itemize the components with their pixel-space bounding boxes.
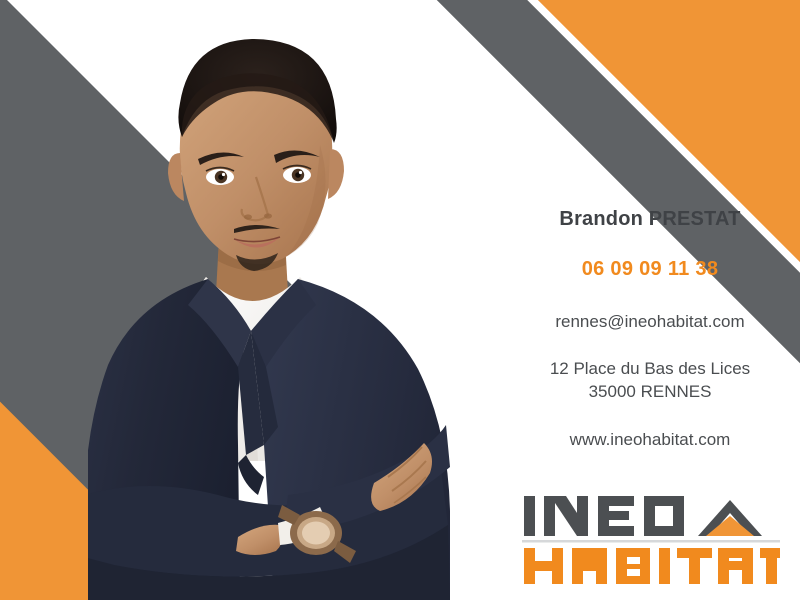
contact-name: Brandon PRESTAT bbox=[500, 208, 800, 231]
logo-ineo-text bbox=[524, 496, 684, 536]
business-card: Brandon PRESTAT 06 09 09 11 38 rennes@in… bbox=[0, 0, 800, 600]
contact-address: 12 Place du Bas des Lices 35000 RENNES bbox=[500, 358, 800, 404]
logo-habitat-text bbox=[524, 548, 780, 584]
portrait-photo bbox=[88, 25, 508, 600]
address-line-1: 12 Place du Bas des Lices bbox=[500, 358, 800, 381]
contact-email[interactable]: rennes@ineohabitat.com bbox=[500, 312, 800, 332]
address-line-2: 35000 RENNES bbox=[500, 381, 800, 404]
roof-chevron-icon bbox=[698, 500, 762, 536]
logo-divider bbox=[522, 540, 780, 543]
contact-phone[interactable]: 06 09 09 11 38 bbox=[500, 258, 800, 281]
contact-website[interactable]: www.ineohabitat.com bbox=[500, 430, 800, 450]
company-logo bbox=[522, 490, 780, 585]
contact-info-panel: Brandon PRESTAT 06 09 09 11 38 rennes@in… bbox=[500, 0, 800, 600]
